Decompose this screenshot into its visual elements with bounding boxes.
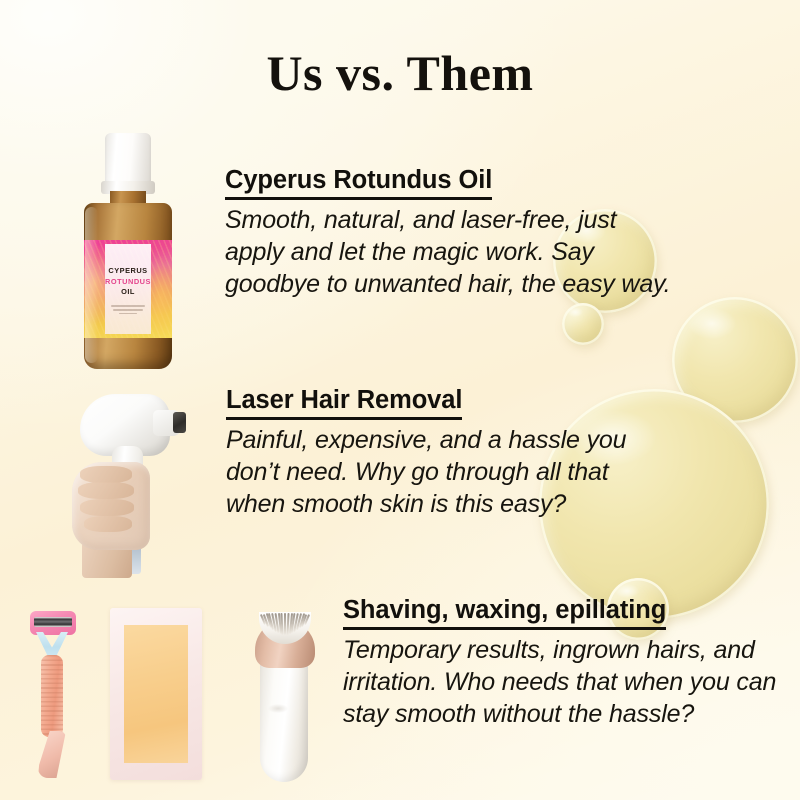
comparison-block-cyperus-rotundus-oil: Cyperus Rotundus Oil Smooth, natural, an… — [225, 166, 677, 300]
wax-strip-wax-area — [124, 625, 188, 763]
razor-handle-base — [38, 731, 66, 778]
razor-image — [22, 611, 82, 778]
bottle-label-finetext — [111, 303, 145, 316]
finger — [80, 499, 134, 516]
finger — [78, 482, 134, 499]
comparison-body: Painful, expensive, and a hassle you don… — [226, 424, 672, 520]
bottle-label-panel: CYPERUS ROTUNDUS OIL — [105, 244, 151, 334]
oil-droplet-icon — [562, 303, 604, 345]
razor-blade — [34, 617, 72, 627]
bottle-label-line2: ROTUNDUS — [105, 277, 151, 288]
comparison-block-shaving-waxing-epillating: Shaving, waxing, epillating Temporary re… — [343, 596, 788, 730]
comparison-block-laser-hair-removal: Laser Hair Removal Painful, expensive, a… — [226, 386, 672, 520]
finger — [80, 466, 132, 483]
page-title: Us vs. Them — [0, 44, 800, 102]
razor-yoke — [36, 632, 68, 657]
bottle-label-line1: CYPERUS — [108, 266, 147, 277]
epilator-image — [248, 604, 322, 782]
dropper-cap-icon — [105, 133, 151, 185]
epilator-body — [260, 648, 308, 782]
wax-strip-image — [110, 608, 202, 780]
razor-handle — [41, 655, 63, 737]
epilator-tweezer-teeth — [262, 612, 308, 634]
comparison-heading: Cyperus Rotundus Oil — [225, 166, 492, 200]
comparison-body: Temporary results, ingrown hairs, and ir… — [343, 634, 788, 730]
bottle-highlight — [85, 207, 98, 363]
comparison-heading: Laser Hair Removal — [226, 386, 462, 420]
epilator-seam — [268, 704, 288, 713]
bottle-label-line3: OIL — [121, 287, 135, 298]
poster-canvas: Us vs. Them CYPERUS ROTUNDUS OIL — [0, 0, 800, 800]
finger — [84, 516, 132, 532]
comparison-heading: Shaving, waxing, epillating — [343, 596, 666, 630]
laser-device-image — [58, 388, 216, 574]
comparison-body: Smooth, natural, and laser-free, just ap… — [225, 204, 677, 300]
laser-applicator-tip — [173, 412, 186, 433]
oil-bottle-image: CYPERUS ROTUNDUS OIL — [74, 133, 182, 369]
